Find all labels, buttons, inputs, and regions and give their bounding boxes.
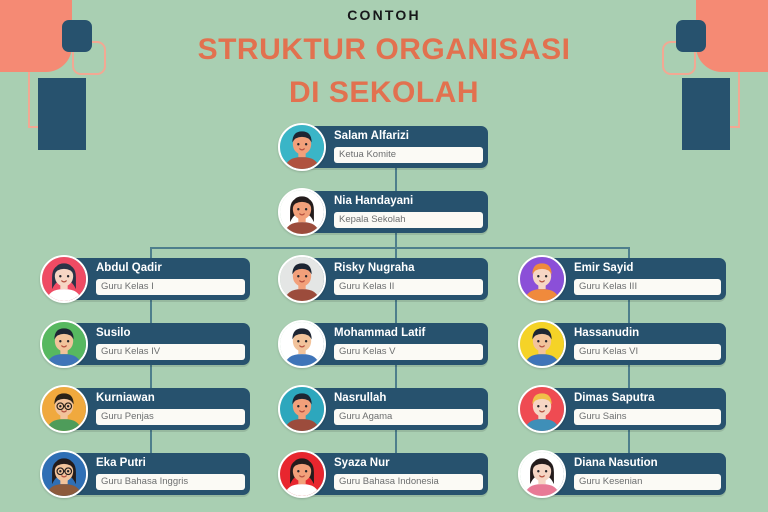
avatar-male-red-icon [518,385,566,433]
wire-committee-to-principal [395,168,397,191]
avatar-male-yellow-icon [518,320,566,368]
person-name: Mohammad Latif [334,327,425,339]
avatar-female-white-icon [278,188,326,236]
avatar-female-white-icon [518,450,566,498]
page-title-line-1: STRUKTUR ORGANISASI [0,33,768,67]
person-name: Nasrullah [334,392,386,404]
node-teacher-c0-r1[interactable]: SusiloGuru Kelas IV [40,323,250,365]
avatar-male-teal-icon [278,385,326,433]
wire-col2-row0-to-row1 [628,300,630,323]
person-role: Guru Bahasa Inggris [101,476,188,487]
person-name: Syaza Nur [334,457,390,469]
header-kicker: CONTOH [0,7,768,23]
person-role: Guru Agama [339,411,392,422]
person-name: Nia Handayani [334,195,413,207]
person-name: Susilo [96,327,131,339]
wire-col1-row1-to-row2 [395,365,397,388]
avatar-male-teal-icon [278,123,326,171]
person-name: Dimas Saputra [574,392,655,404]
avatar-female-red-icon [278,450,326,498]
wire-col0-row0-to-row1 [150,300,152,323]
chart-header: CONTOH STRUKTUR ORGANISASI DI SEKOLAH [0,0,768,110]
wire-col1-row2-to-row3 [395,430,397,453]
avatar-male-green-icon [40,320,88,368]
wire-bus-to-column-0 [150,247,152,258]
person-name: Risky Nugraha [334,262,415,274]
node-teacher-c0-r2[interactable]: KurniawanGuru Penjas [40,388,250,430]
person-role: Guru Kelas VI [579,346,638,357]
person-name: Salam Alfarizi [334,130,409,142]
person-name: Eka Putri [96,457,146,469]
person-name: Abdul Qadir [96,262,162,274]
wire-col2-row2-to-row3 [628,430,630,453]
node-teacher-c2-r0[interactable]: Emir SayidGuru Kelas III [518,258,726,300]
node-teacher-c2-r3[interactable]: Diana NasutionGuru Kesenian [518,453,726,495]
person-role: Guru Kelas I [101,281,154,292]
node-teacher-c2-r2[interactable]: Dimas SaputraGuru Sains [518,388,726,430]
person-name: Hassanudin [574,327,639,339]
person-role: Guru Sains [579,411,627,422]
node-teacher-c1-r0[interactable]: Risky NugrahaGuru Kelas II [278,258,488,300]
person-role: Kepala Sekolah [339,214,406,225]
node-committee-head[interactable]: Salam AlfariziKetua Komite [278,126,488,168]
person-role: Guru Kelas III [579,281,637,292]
person-role: Ketua Komite [339,149,396,160]
person-name: Emir Sayid [574,262,633,274]
person-role: Guru Penjas [101,411,154,422]
node-teacher-c0-r0[interactable]: Abdul QadirGuru Kelas I [40,258,250,300]
node-teacher-c0-r3[interactable]: Eka PutriGuru Bahasa Inggris [40,453,250,495]
wire-col1-row0-to-row1 [395,300,397,323]
person-role: Guru Kelas II [339,281,394,292]
avatar-male-grey-icon [278,255,326,303]
node-teacher-c2-r1[interactable]: HassanudinGuru Kelas VI [518,323,726,365]
avatar-female-glasses-blue-icon [40,450,88,498]
wire-col0-row2-to-row3 [150,430,152,453]
person-name: Diana Nasution [574,457,658,469]
wire-col0-row1-to-row2 [150,365,152,388]
person-role: Guru Kelas V [339,346,396,357]
wire-bus-to-column-1 [395,247,397,258]
person-role: Guru Kesenian [579,476,642,487]
avatar-female-pink-icon [40,255,88,303]
page-title-line-2: DI SEKOLAH [0,76,768,110]
avatar-child-purple-icon [518,255,566,303]
person-name: Kurniawan [96,392,155,404]
avatar-male-glasses-orange-icon [40,385,88,433]
wire-principal-drop [395,233,397,247]
person-role: Guru Bahasa Indonesia [339,476,439,487]
node-teacher-c1-r3[interactable]: Syaza NurGuru Bahasa Indonesia [278,453,488,495]
node-teacher-c1-r2[interactable]: NasrullahGuru Agama [278,388,488,430]
wire-horizontal-bus [151,247,629,249]
wire-bus-to-column-2 [628,247,630,258]
avatar-male-white-icon [278,320,326,368]
node-principal[interactable]: Nia HandayaniKepala Sekolah [278,191,488,233]
wire-col2-row1-to-row2 [628,365,630,388]
person-role: Guru Kelas IV [101,346,160,357]
node-teacher-c1-r1[interactable]: Mohammad LatifGuru Kelas V [278,323,488,365]
